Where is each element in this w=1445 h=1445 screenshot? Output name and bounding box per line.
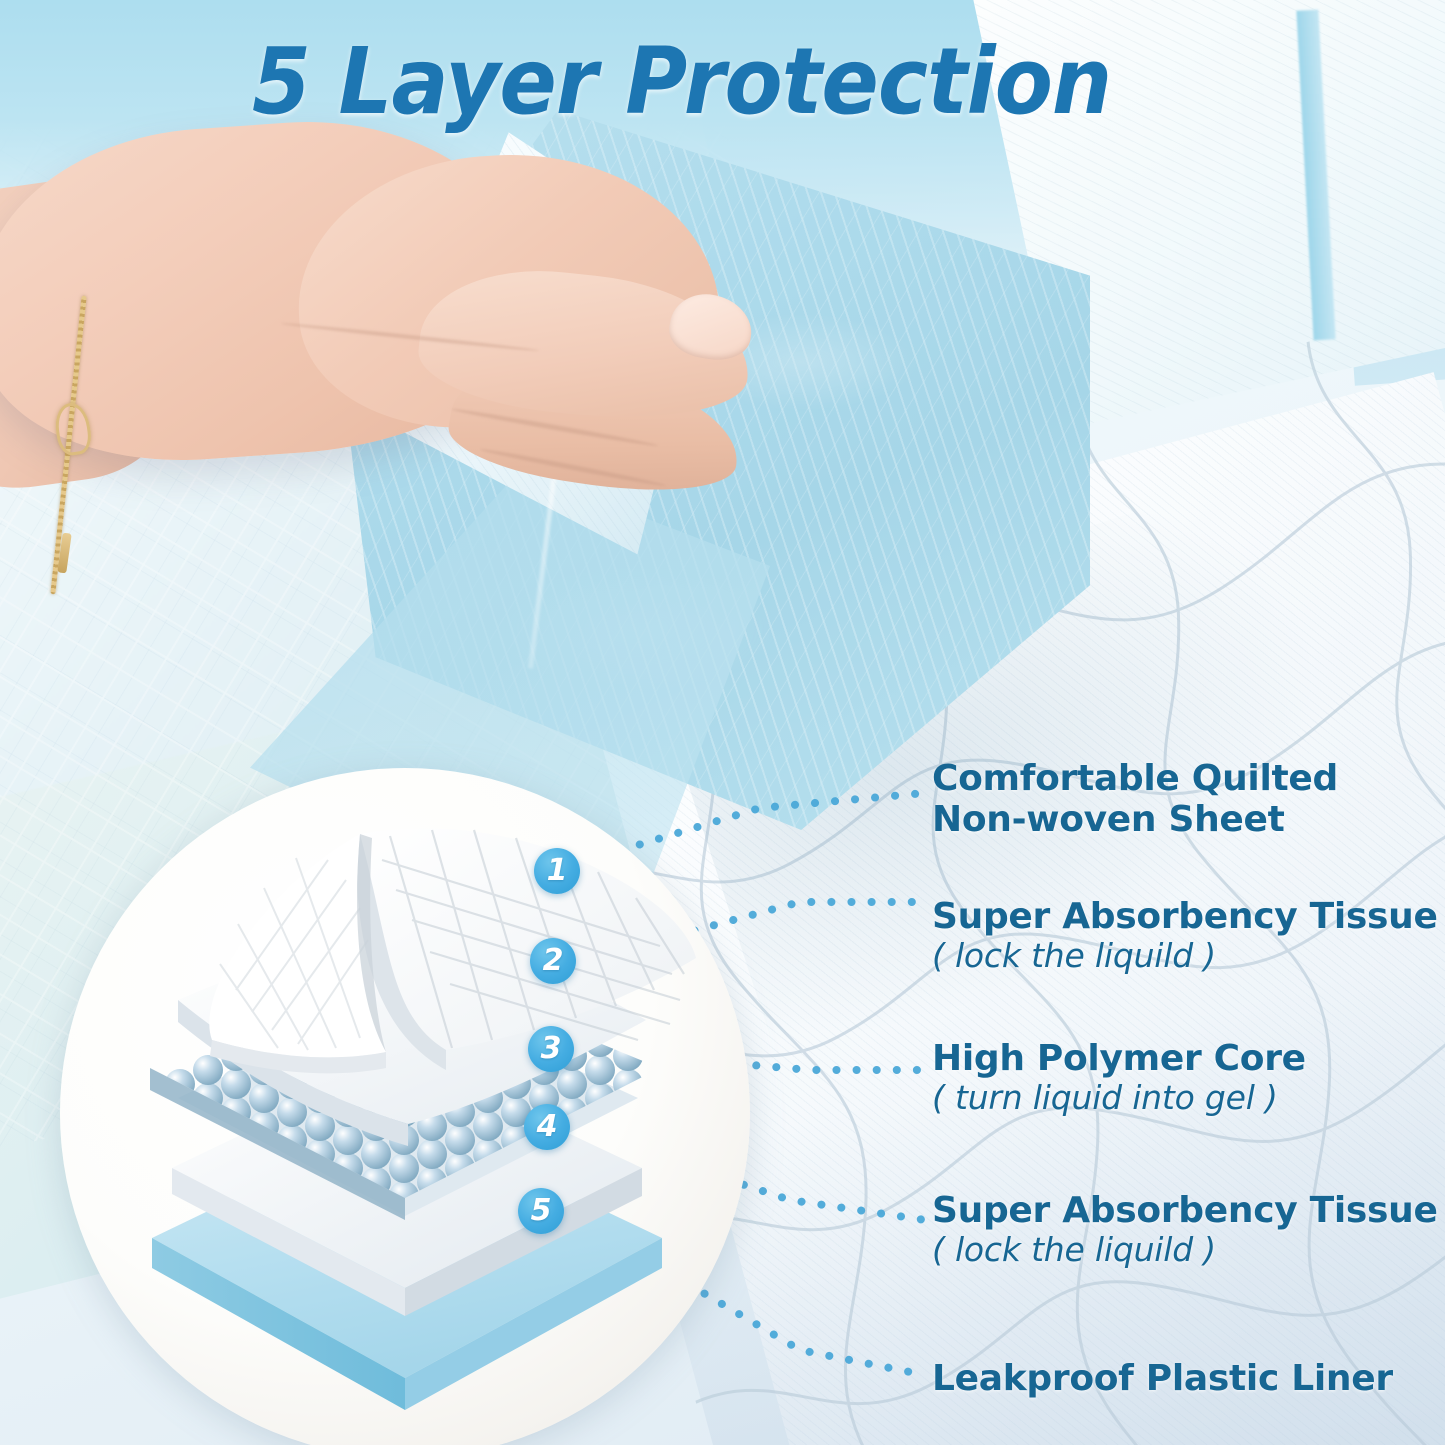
layer-1-quilted-nonwoven-sheet bbox=[209, 828, 696, 1073]
layer-label-1-line1: Comfortable Quilted bbox=[932, 758, 1338, 799]
layer-label-1: Comfortable Quilted Non-woven Sheet bbox=[932, 758, 1338, 840]
layer-label-5-line1: Leakproof Plastic Liner bbox=[932, 1358, 1393, 1399]
layer-badge-2[interactable]: 2 bbox=[530, 938, 576, 984]
layer-label-2-line1: Super Absorbency Tissue bbox=[932, 896, 1438, 937]
exploded-layer-stack bbox=[60, 768, 750, 1445]
layer-label-2-sub: ( lock the liquild ) bbox=[932, 937, 1438, 976]
layer-stack-inset bbox=[60, 768, 750, 1445]
layer-label-3-sub: ( turn liquid into gel ) bbox=[932, 1079, 1306, 1118]
layer-label-3: High Polymer Core ( turn liquid into gel… bbox=[932, 1038, 1306, 1118]
layer-label-4: Super Absorbency Tissue ( lock the liqui… bbox=[932, 1190, 1438, 1270]
layer-label-3-line1: High Polymer Core bbox=[932, 1038, 1306, 1079]
layer-badge-3[interactable]: 3 bbox=[528, 1026, 574, 1072]
layer-badge-4[interactable]: 4 bbox=[524, 1104, 570, 1150]
layer-badge-1[interactable]: 1 bbox=[534, 848, 580, 894]
infographic-canvas: .ld{fill:none;stroke:#4aa8d8;stroke-widt… bbox=[0, 0, 1445, 1445]
layer-label-2: Super Absorbency Tissue ( lock the liqui… bbox=[932, 896, 1438, 976]
layer-label-4-line1: Super Absorbency Tissue bbox=[932, 1190, 1438, 1231]
layer-label-5: Leakproof Plastic Liner bbox=[932, 1358, 1393, 1399]
layer-label-1-line2: Non-woven Sheet bbox=[932, 799, 1338, 840]
page-title: 5 Layer Protection bbox=[252, 28, 1111, 135]
layer-badge-5[interactable]: 5 bbox=[518, 1188, 564, 1234]
layer-label-4-sub: ( lock the liquild ) bbox=[932, 1231, 1438, 1270]
